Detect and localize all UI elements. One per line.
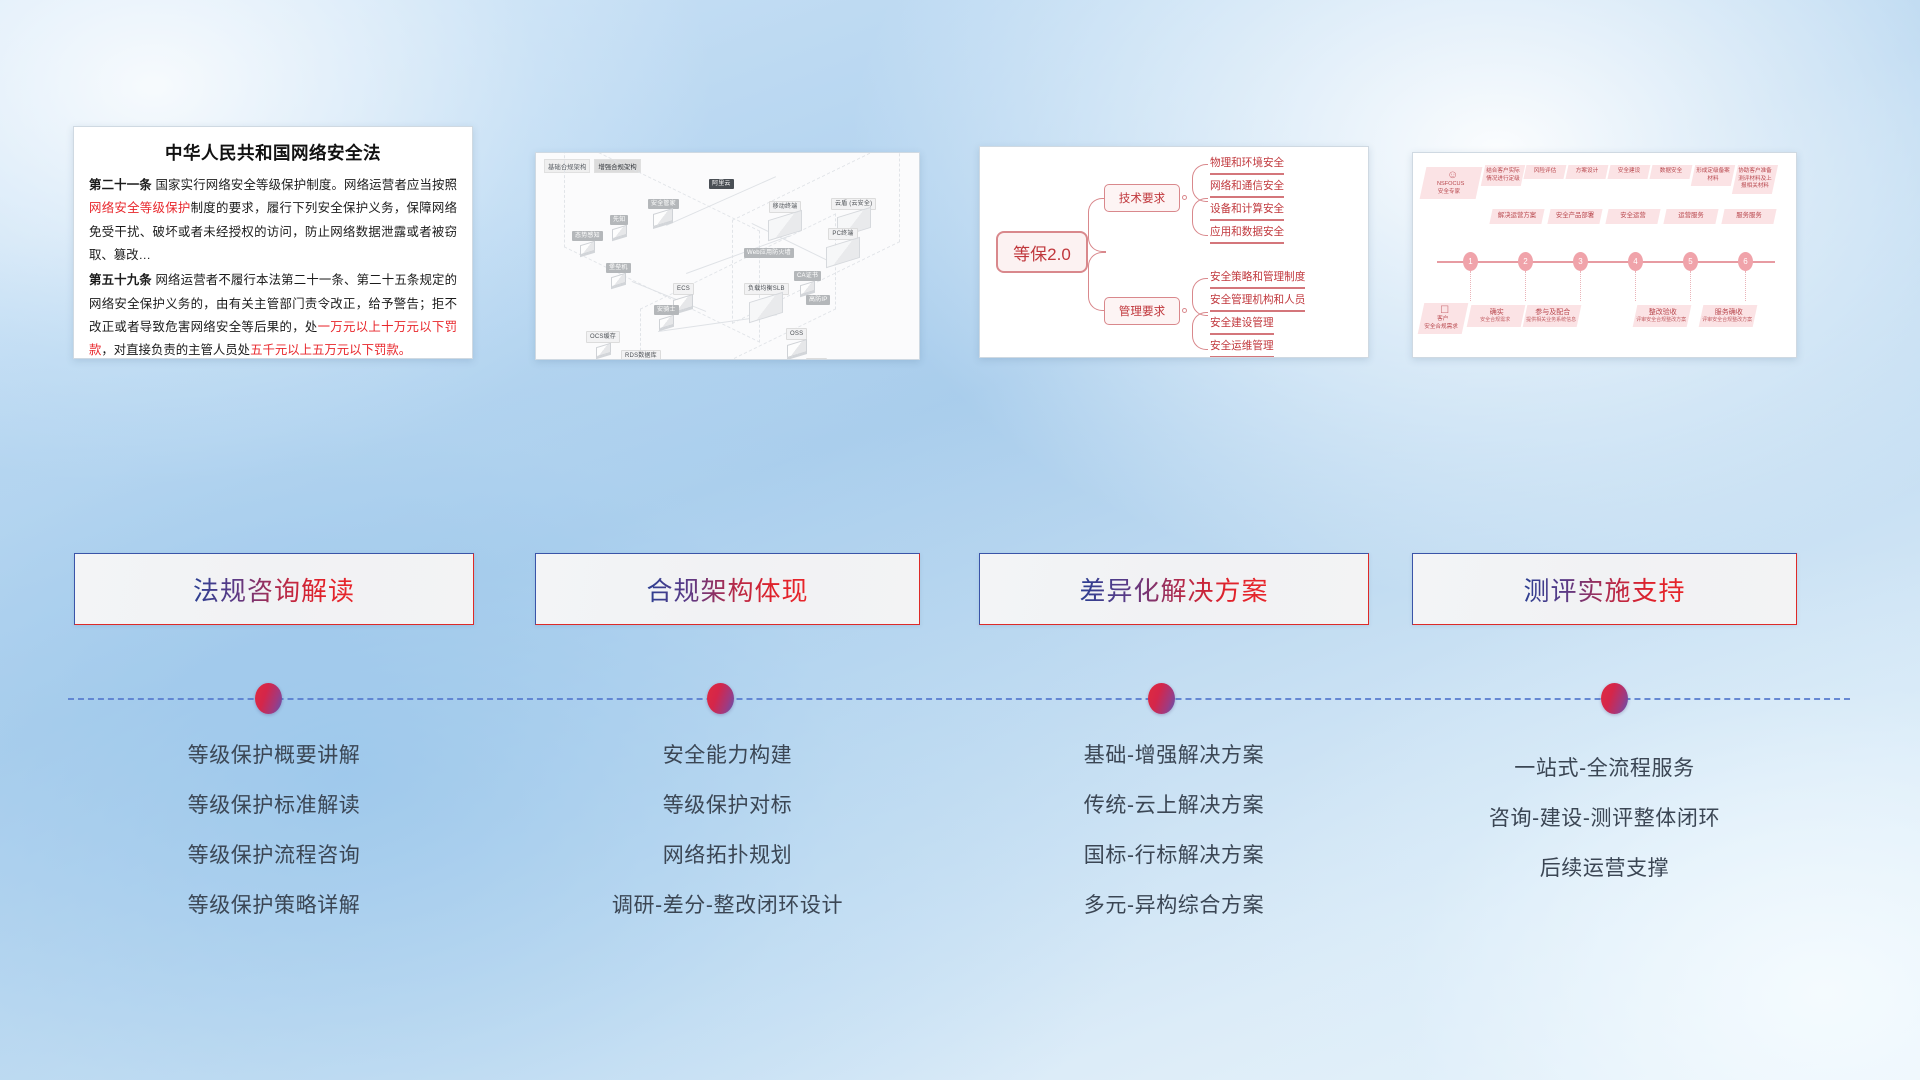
label-text: 测评实施支持 (1523, 571, 1685, 608)
timeline-dot-4[interactable] (1601, 683, 1628, 714)
list-item: 基础-增强解决方案 (979, 745, 1369, 766)
label-box-assessment-support[interactable]: 测评实施支持 (1412, 553, 1797, 625)
timeline-dot-1[interactable] (255, 683, 282, 714)
detail-list-solution: 基础-增强解决方案 传统-云上解决方案 国标-行标解决方案 多元-异构综合方案 (979, 745, 1369, 945)
list-item: 传统-云上解决方案 (979, 795, 1369, 816)
list-item: 咨询-建设-测评整体闭环 (1412, 808, 1797, 829)
label-box-differentiated-solution[interactable]: 差异化解决方案 (979, 553, 1369, 625)
list-item: 等级保护概要讲解 (74, 745, 474, 766)
detail-list-architecture: 安全能力构建 等级保护对标 网络拓扑规划 调研-差分-整改闭环设计 (535, 745, 920, 945)
list-item: 后续运营支撑 (1412, 858, 1797, 879)
label-box-compliance-architecture[interactable]: 合规架构体现 (535, 553, 920, 625)
list-item: 国标-行标解决方案 (979, 845, 1369, 866)
label-text: 法规咨询解读 (193, 571, 355, 608)
list-item: 安全能力构建 (535, 745, 920, 766)
label-text: 合规架构体现 (646, 571, 808, 608)
label-box-regulation-consulting[interactable]: 法规咨询解读 (74, 553, 474, 625)
detail-list-regulation: 等级保护概要讲解 等级保护标准解读 等级保护流程咨询 等级保护策略详解 (74, 745, 474, 945)
detail-list-assessment: 一站式-全流程服务 咨询-建设-测评整体闭环 后续运营支撑 (1412, 758, 1797, 908)
list-item: 等级保护策略详解 (74, 895, 474, 916)
list-item: 调研-差分-整改闭环设计 (535, 895, 920, 916)
list-item: 等级保护标准解读 (74, 795, 474, 816)
list-item: 等级保护流程咨询 (74, 845, 474, 866)
timeline-dashed-line (68, 698, 1850, 700)
list-item: 等级保护对标 (535, 795, 920, 816)
timeline-dot-3[interactable] (1148, 683, 1175, 714)
list-item: 多元-异构综合方案 (979, 895, 1369, 916)
list-item: 网络拓扑规划 (535, 845, 920, 866)
timeline-dot-2[interactable] (707, 683, 734, 714)
label-text: 差异化解决方案 (1079, 571, 1268, 608)
list-item: 一站式-全流程服务 (1412, 758, 1797, 779)
